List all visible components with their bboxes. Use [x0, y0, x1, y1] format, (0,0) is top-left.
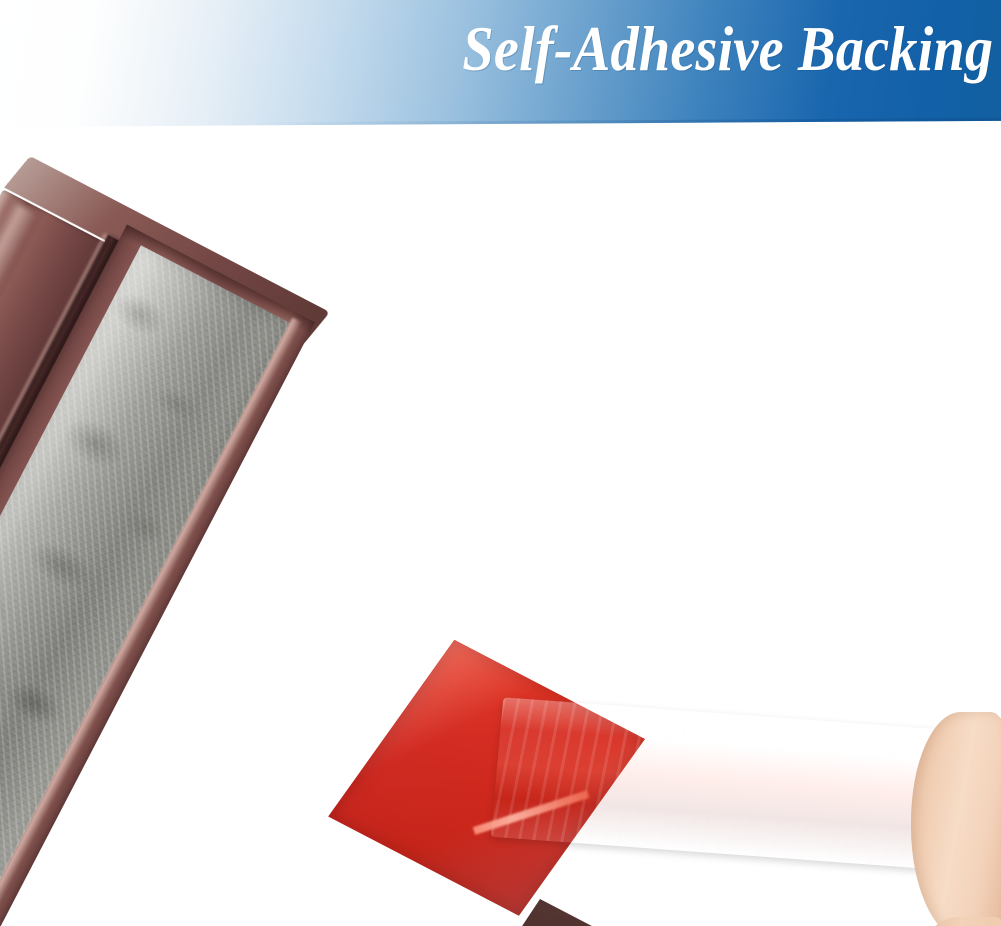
finger-tip: [915, 917, 1001, 926]
product-infographic-page: Self-Adhesive Backing The flexible floor…: [0, 0, 1001, 926]
page-title: Self-Adhesive Backing: [462, 14, 993, 83]
product-photo: [0, 127, 1001, 926]
finger: [911, 712, 1001, 926]
floor-strip: [0, 154, 387, 926]
banner-corner-notch: [0, 0, 4, 4]
strip-underside-shadow: [446, 899, 709, 926]
